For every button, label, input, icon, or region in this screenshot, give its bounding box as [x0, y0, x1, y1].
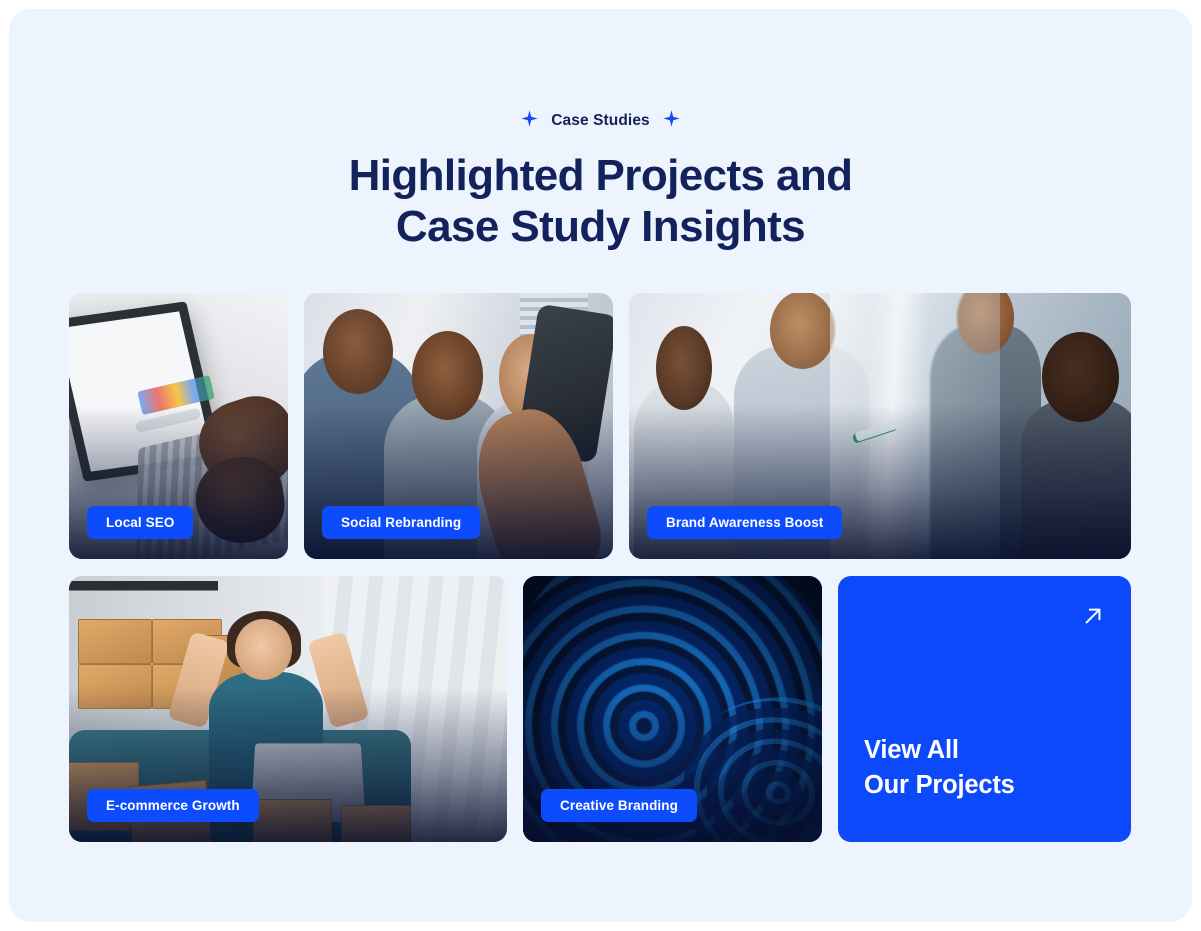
- card-badge[interactable]: Creative Branding: [541, 789, 697, 822]
- case-study-card-brand-awareness-boost[interactable]: Brand Awareness Boost: [629, 293, 1131, 559]
- arrow-up-right-icon: [1079, 602, 1107, 635]
- grid-row-top: Local SEO Social Rebranding: [69, 293, 1131, 559]
- sparkle-icon: [521, 110, 538, 132]
- card-badge[interactable]: Local SEO: [87, 506, 193, 539]
- heading-line-2: Case Study Insights: [9, 201, 1192, 252]
- view-all-projects-card[interactable]: View All Our Projects: [838, 576, 1131, 842]
- view-all-projects-label: View All Our Projects: [864, 733, 1015, 803]
- section-eyebrow: Case Studies: [9, 110, 1192, 132]
- card-badge[interactable]: Social Rebranding: [322, 506, 480, 539]
- eyebrow-label: Case Studies: [551, 112, 650, 130]
- sparkle-icon: [663, 110, 680, 132]
- cta-line-1: View All: [864, 733, 1015, 768]
- section-heading: Highlighted Projects and Case Study Insi…: [9, 150, 1192, 252]
- card-badge[interactable]: Brand Awareness Boost: [647, 506, 842, 539]
- heading-line-1: Highlighted Projects and: [9, 150, 1192, 201]
- grid-row-bottom: E-commerce Growth Creative Branding: [69, 576, 1131, 842]
- card-badge[interactable]: E-commerce Growth: [87, 789, 259, 822]
- case-study-card-social-rebranding[interactable]: Social Rebranding: [304, 293, 613, 559]
- case-study-card-creative-branding[interactable]: Creative Branding: [523, 576, 822, 842]
- case-study-grid: Local SEO Social Rebranding: [69, 293, 1131, 842]
- case-studies-section: Case Studies Highlighted Projects and Ca…: [9, 9, 1192, 922]
- case-study-card-ecommerce-growth[interactable]: E-commerce Growth: [69, 576, 507, 842]
- case-study-card-local-seo[interactable]: Local SEO: [69, 293, 288, 559]
- cta-line-2: Our Projects: [864, 768, 1015, 803]
